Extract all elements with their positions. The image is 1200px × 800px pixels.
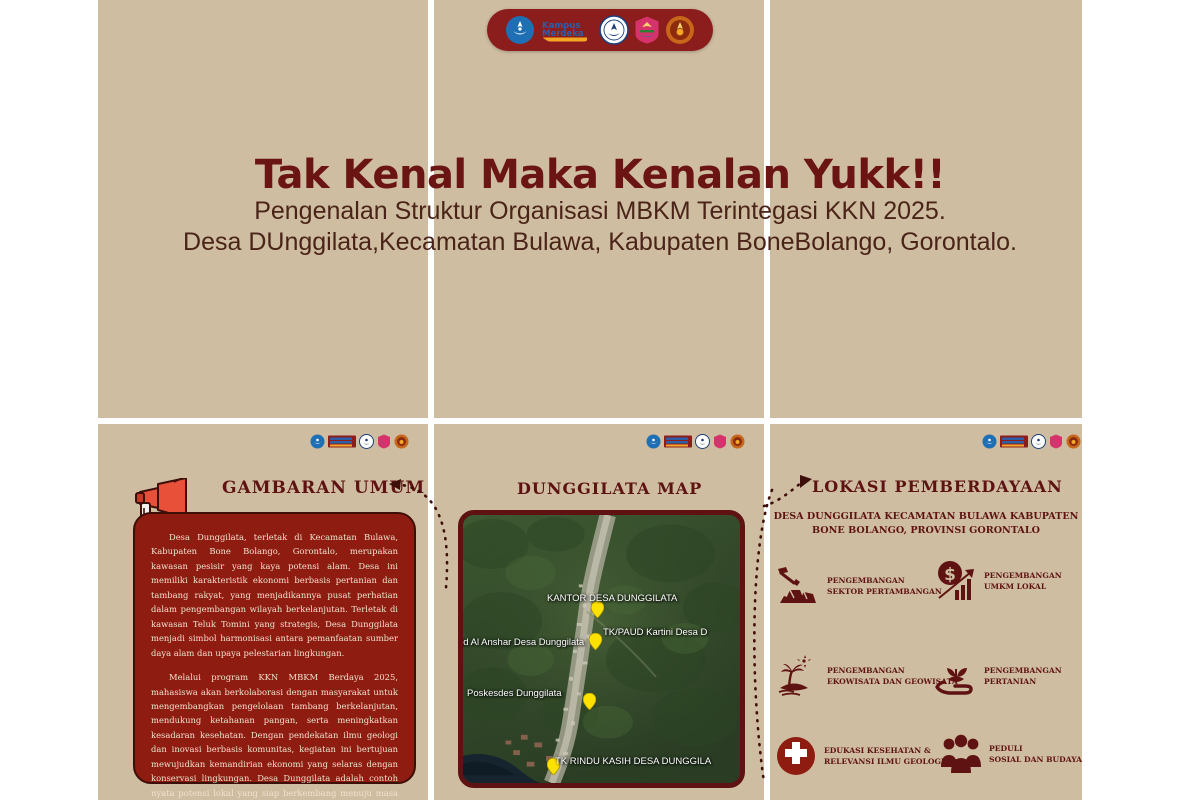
item-label-6-line1: PEDULI	[989, 743, 1082, 754]
item-edukasi-kesehatan-relevansi-ilmu-geologi[interactable]: EDUKASI KESEHATAN & RELEVANSI ILMU GEOLO…	[775, 735, 944, 777]
item-label-6: PEDULI SOSIAL DAN BUDAYA	[989, 743, 1082, 765]
gambaran-umum-card: Desa Dunggilata, terletak di Kecamatan B…	[133, 512, 416, 784]
logo-strip-middle	[646, 434, 745, 449]
gambaran-paragraph-1: Desa Dunggilata, terletak di Kecamatan B…	[151, 530, 398, 660]
item-label-5: EDUKASI KESEHATAN & RELEVANSI ILMU GEOLO…	[824, 745, 944, 767]
map-label-masjid-al-anshar: jid Al Anshar Desa Dunggilata	[459, 637, 584, 648]
mining-rocks-icon	[778, 565, 820, 607]
island-palm-tree-icon	[778, 655, 820, 697]
item-label-4: PENGEMBANGAN PERTANIAN	[984, 665, 1062, 687]
item-label-1-line2: SEKTOR PERTAMBANGAN	[827, 586, 942, 597]
map-label-tk-rindu-kasih: TK RINDU KASIH DESA DUNGGILA	[555, 756, 711, 767]
lokasi-subtitle-line1: DESA DUNGGILATA KECAMATAN BULAWA KABUPAT…	[770, 510, 1082, 524]
kampus-merdeka-logo: Kampus Merdeka	[539, 15, 595, 45]
item-label-5-line2: RELEVANSI ILMU GEOLOGI	[824, 756, 944, 767]
map-pin-tk-paud[interactable]	[589, 633, 602, 650]
logo-strip-left	[310, 434, 409, 449]
tut-wuri-handayani-emblem-mini	[646, 434, 661, 449]
tut-wuri-handayani-emblem	[505, 15, 535, 45]
provinsi-gorontalo-emblem	[665, 15, 695, 45]
tut-wuri-handayani-emblem-mini	[982, 434, 997, 449]
panel-top-left	[98, 0, 428, 418]
panel-top-middle	[434, 0, 764, 418]
kabupaten-bone-bolango-emblem-mini	[1049, 434, 1063, 449]
item-label-2: PENGEMBANGAN UMKM LOKAL	[984, 570, 1062, 592]
provinsi-gorontalo-emblem-mini	[1066, 434, 1081, 449]
logo-banner: Kampus Merdeka	[487, 9, 713, 51]
lokasi-pemberdayaan-heading: LOKASI PEMBERDAYAAN	[812, 477, 1063, 496]
dollar-growth-chart-icon: $	[935, 560, 977, 602]
kabupaten-bone-bolango-emblem-mini	[713, 434, 727, 449]
logo-strip-right	[982, 434, 1081, 449]
item-label-2-line1: PENGEMBANGAN	[984, 570, 1062, 581]
item-peduli-sosial-dan-budaya[interactable]: PEDULI SOSIAL DAN BUDAYA	[940, 733, 1082, 775]
poster-root: Tak Kenal Maka Kenalan Yukk!! Pengenalan…	[0, 0, 1200, 800]
map-pin-poskesdes[interactable]	[583, 693, 596, 710]
people-group-icon	[940, 733, 982, 775]
item-pengembangan-umkm-lokal[interactable]: $ PENGEMBANGAN UMKM LOKAL	[935, 560, 1062, 602]
provinsi-gorontalo-emblem-mini	[394, 434, 409, 449]
universitas-negeri-gorontalo-emblem-mini	[1031, 434, 1046, 449]
gambaran-paragraph-2: Melalui program KKN MBKM Berdaya 2025, m…	[151, 670, 398, 800]
item-label-5-line1: EDUKASI KESEHATAN &	[824, 745, 944, 756]
lokasi-subtitle-line2: BONE BOLANGO, PROVINSI GORONTALO	[770, 524, 1082, 538]
item-label-2-line2: UMKM LOKAL	[984, 581, 1062, 592]
panel-top-right	[770, 0, 1082, 418]
map-label-tk-paud-kartini: TK/PAUD Kartini Desa D	[603, 627, 707, 638]
universitas-negeri-gorontalo-emblem	[599, 15, 629, 45]
dunggilata-map-heading: DUNGGILATA MAP	[517, 479, 702, 498]
item-label-6-line2: SOSIAL DAN BUDAYA	[989, 754, 1082, 765]
item-label-4-line2: PERTANIAN	[984, 676, 1062, 687]
dunggilata-map[interactable]: KANTOR DESA DUNGGILATA TK/PAUD Kartini D…	[458, 510, 745, 788]
map-label-kantor-desa: KANTOR DESA DUNGGILATA	[547, 593, 677, 604]
tut-wuri-handayani-emblem-mini	[310, 434, 325, 449]
item-pengembangan-sektor-pertambangan[interactable]: PENGEMBANGAN SEKTOR PERTAMBANGAN	[778, 565, 942, 607]
lokasi-subtitle: DESA DUNGGILATA KECAMATAN BULAWA KABUPAT…	[770, 510, 1082, 539]
item-label-1: PENGEMBANGAN SEKTOR PERTAMBANGAN	[827, 575, 942, 597]
provinsi-gorontalo-emblem-mini	[730, 434, 745, 449]
kampus-merdeka-logo-mini	[328, 434, 356, 449]
item-label-1-line1: PENGEMBANGAN	[827, 575, 942, 586]
kabupaten-bone-bolango-emblem	[633, 15, 661, 45]
item-pengembangan-pertanian[interactable]: PENGEMBANGAN PERTANIAN	[935, 655, 1062, 697]
medical-cross-icon	[775, 735, 817, 777]
map-label-poskesdes: Poskesdes Dunggilata	[467, 688, 562, 699]
kampus-merdeka-logo-mini	[664, 434, 692, 449]
hand-plant-sprout-icon	[935, 655, 977, 697]
universitas-negeri-gorontalo-emblem-mini	[359, 434, 374, 449]
item-label-4-line1: PENGEMBANGAN	[984, 665, 1062, 676]
svg-text:$: $	[944, 565, 956, 585]
kampus-merdeka-logo-mini	[1000, 434, 1028, 449]
gambaran-umum-heading: GAMBARAN UMUM	[222, 478, 425, 498]
item-pengembangan-ekowisata-dan-geowisata[interactable]: PENGEMBANGAN EKOWISATA DAN GEOWISATA	[778, 655, 958, 697]
universitas-negeri-gorontalo-emblem-mini	[695, 434, 710, 449]
kabupaten-bone-bolango-emblem-mini	[377, 434, 391, 449]
